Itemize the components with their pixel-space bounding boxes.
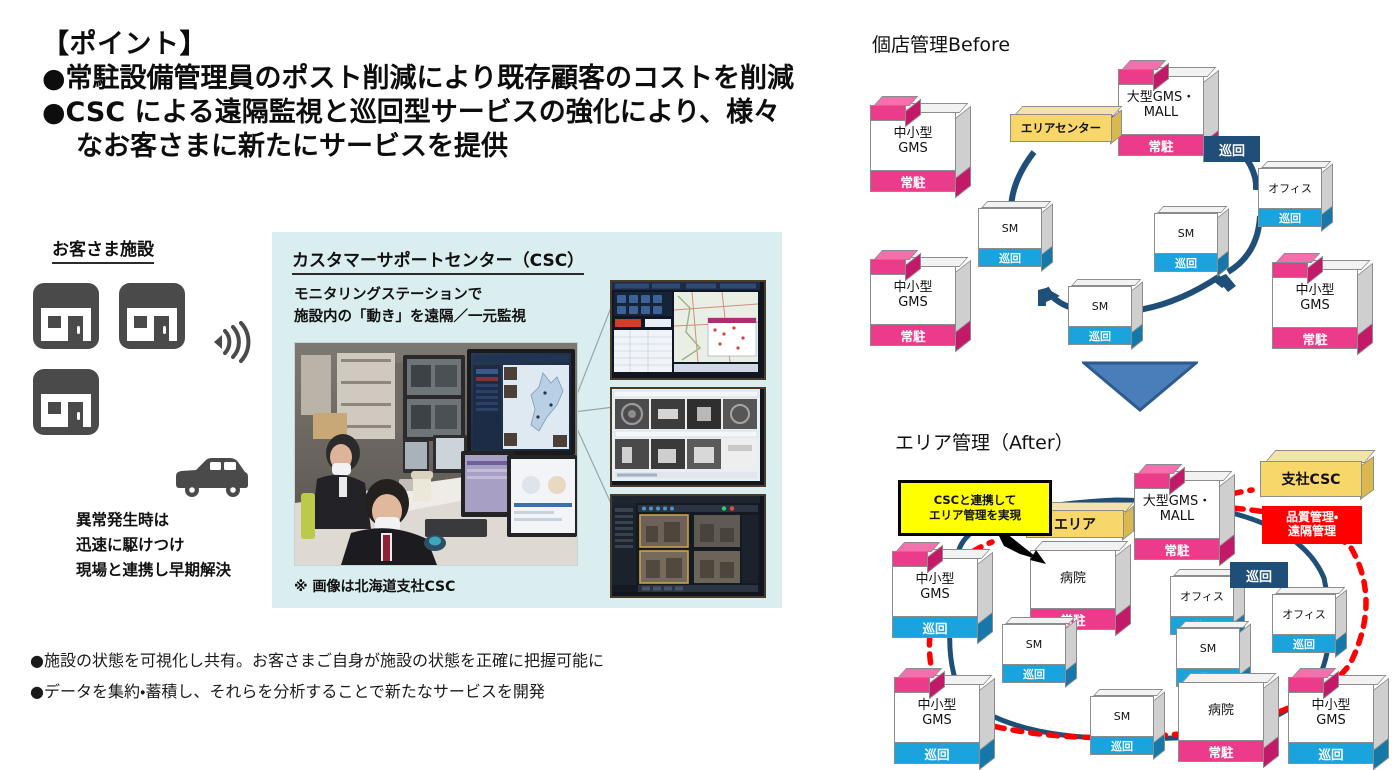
- alert-response-text: 異常発生時は 迅速に駆けつけ 現場と連携し早期解決: [76, 508, 231, 583]
- facility-box-label: オフィス: [1259, 169, 1321, 208]
- slide-root: 【ポイント】 ●常駐設備管理員のポスト削減により既存顧客のコストを削減 ●CSC…: [0, 0, 1400, 770]
- facility-box-front: 中小型 GMS巡回: [894, 684, 980, 764]
- facility-box-label: SM: [1091, 697, 1153, 736]
- facility-box-front: 中小型 GMS常駐: [870, 266, 956, 346]
- facility-box-label: SM: [1003, 625, 1065, 664]
- facility-status-badge: 巡回: [1003, 664, 1065, 682]
- wifi-signal-icon: [212, 320, 252, 364]
- facility-box-front: 病院常駐: [1178, 682, 1264, 762]
- facility-status-badge: 常駐: [1135, 538, 1219, 559]
- facility-status-badge: 巡回: [1069, 326, 1131, 344]
- facility-box-label: オフィス: [1171, 577, 1233, 616]
- facility-box-front: SM巡回: [978, 208, 1042, 267]
- headline-line-2: ●CSC による遠隔監視と巡回型サービスの強化により、様々: [42, 96, 842, 130]
- after-junkai-tag: 巡回: [1230, 562, 1288, 588]
- csc-photo-note: ※ 画像は北海道支社CSC: [294, 576, 455, 596]
- bullet-0: ●施設の状態を可視化し共有。お客さまご自身が施設の状態を正確に把握可能に: [30, 645, 604, 676]
- facility-box-label: 病院: [1179, 683, 1263, 740]
- before-diagram: 中小型 GMS常駐大型GMS・ MALL常駐オフィス巡回SM巡回SM巡回SM巡回…: [860, 48, 1400, 358]
- bottom-bullets: ●施設の状態を可視化し共有。お客さまご自身が施設の状態を正確に把握可能に ●デー…: [30, 645, 604, 707]
- csc-panel: カスタマーサポートセンター（CSC） モニタリングステーションで 施設内の「動き…: [272, 232, 782, 608]
- headline-line-1: ●常駐設備管理員のポスト削減により既存顧客のコストを削減: [42, 62, 842, 96]
- csc-panel-title: カスタマーサポートセンター（CSC）: [292, 246, 584, 275]
- facility-status-badge: 常駐: [871, 170, 955, 191]
- building-icon: [118, 282, 186, 350]
- facility-status-badge: 常駐: [1273, 327, 1357, 348]
- facility-status-badge: 常駐: [1119, 134, 1203, 155]
- facility-box-front: 大型GMS・ MALL常駐: [1118, 76, 1204, 156]
- facility-box-front: SM巡回: [1068, 286, 1132, 345]
- facility-box-label: SM: [1177, 629, 1239, 668]
- map-dashboard-monitor: [610, 280, 766, 380]
- facility-box-front: SM巡回: [1154, 213, 1218, 272]
- branch-csc-label: 支社CSC: [1260, 461, 1362, 497]
- headline-block: 【ポイント】 ●常駐設備管理員のポスト削減により既存顧客のコストを削減 ●CSC…: [42, 28, 842, 164]
- facility-box-front: 中小型 GMS常駐: [870, 112, 956, 192]
- facility-box-label: 中小型 GMS: [1273, 270, 1357, 327]
- down-arrow-icon: [1082, 360, 1198, 417]
- facility-box-front: 中小型 GMS常駐: [1272, 269, 1358, 349]
- facility-box-label: 中小型 GMS: [893, 559, 977, 616]
- facility-box-front: SM巡回: [1090, 696, 1154, 755]
- car-icon: [172, 452, 250, 500]
- facility-box-front: 中小型 GMS巡回: [1288, 684, 1374, 764]
- csc-cooperation-callout: CSCと連携して エリア管理を実現: [898, 480, 1052, 536]
- customer-facility-title: お客さま施設: [52, 235, 154, 264]
- facility-status-badge: 常駐: [871, 324, 955, 345]
- monitoring-station-photo: [294, 342, 578, 566]
- headline-line-3: なお客さまに新たにサービスを提供: [42, 130, 842, 164]
- quality-remote-mgmt-tag: 品質管理・ 遠隔管理: [1262, 506, 1362, 544]
- facility-box-front: 中小型 GMS巡回: [892, 558, 978, 638]
- facility-box-label: 大型GMS・ MALL: [1135, 481, 1219, 538]
- facility-box-front: オフィス巡回: [1258, 168, 1322, 227]
- facility-status-badge: 巡回: [1091, 736, 1153, 754]
- building-icon: [32, 282, 100, 350]
- facility-box-label: オフィス: [1273, 595, 1335, 634]
- facility-box-front: オフィス巡回: [1272, 594, 1336, 653]
- headline-line-0: 【ポイント】: [42, 28, 842, 62]
- before-junkai-tag: 巡回: [1204, 136, 1260, 162]
- building-icon: [32, 368, 100, 436]
- facility-box-label: 大型GMS・ MALL: [1119, 77, 1203, 134]
- csc-panel-subtitle: モニタリングステーションで 施設内の「動き」を遠隔／一元監視: [294, 285, 526, 329]
- facility-status-badge: 常駐: [1179, 740, 1263, 761]
- facility-box-label: 中小型 GMS: [895, 685, 979, 742]
- area-center-label: エリアセンター: [1010, 114, 1112, 142]
- facility-box-front: SM巡回: [1002, 624, 1066, 683]
- facility-box-label: 中小型 GMS: [871, 267, 955, 324]
- facility-status-badge: 巡回: [1289, 742, 1373, 763]
- facility-status-badge: 巡回: [1273, 634, 1335, 652]
- facility-status-badge: 巡回: [1259, 208, 1321, 226]
- facility-status-badge: 巡回: [893, 616, 977, 637]
- facility-box-label: SM: [1155, 214, 1217, 253]
- facility-box-label: SM: [979, 209, 1041, 248]
- facility-box-label: 中小型 GMS: [871, 113, 955, 170]
- facility-status-badge: 巡回: [1155, 253, 1217, 271]
- equipment-camera-grid-monitor: [610, 387, 766, 487]
- facility-box-label: SM: [1069, 287, 1131, 326]
- facility-status-badge: 巡回: [895, 742, 979, 763]
- facility-box-front: 大型GMS・ MALL常駐: [1134, 480, 1220, 560]
- surveillance-camera-grid-monitor: [610, 494, 766, 598]
- bullet-1: ●データを集約・蓄積し、それらを分析することで新たなサービスを開発: [30, 676, 604, 707]
- facility-box-label: 中小型 GMS: [1289, 685, 1373, 742]
- facility-status-badge: 巡回: [979, 248, 1041, 266]
